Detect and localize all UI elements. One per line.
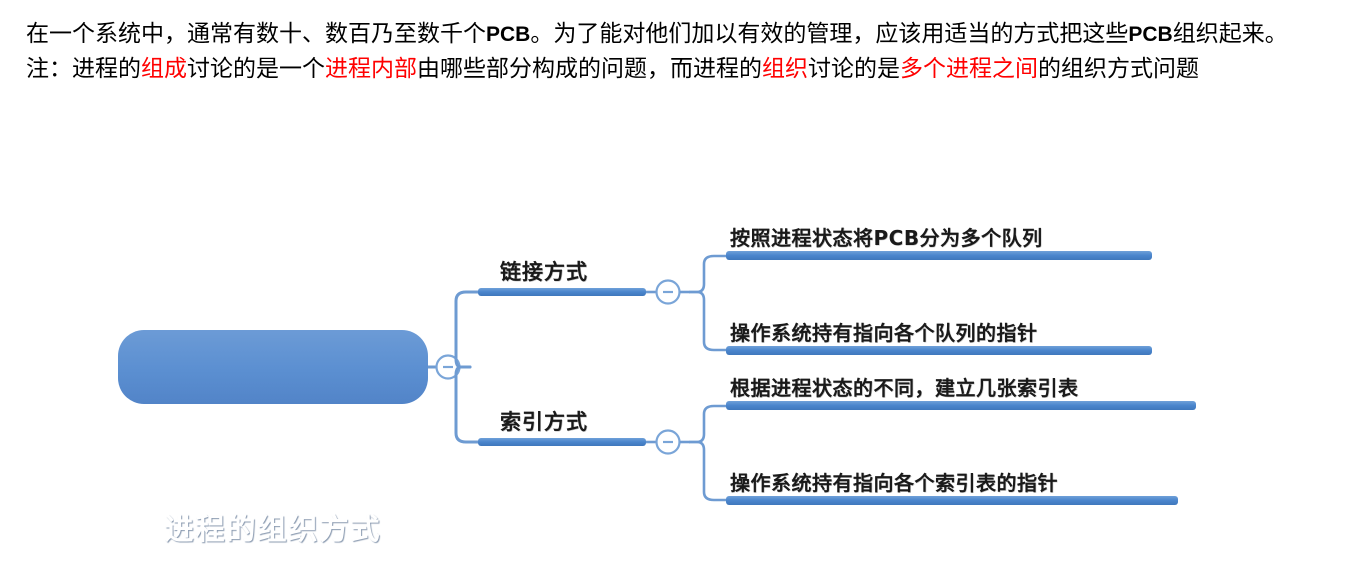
mindmap-diagram: 进程的组织方式 链接方式 索引方式 按照进程状态将PCB分为多个队列 操作系统持… — [0, 160, 1348, 512]
text-block: 在一个系统中，通常有数十、数百乃至数千个PCB。为了能对他们加以有效的管理，应该… — [26, 18, 1326, 87]
trunk-connector-path — [456, 292, 478, 367]
trunk-connector-path-2 — [456, 367, 478, 442]
text-run: 组织起来。 — [1173, 21, 1288, 46]
leaf-fork-path-2 — [690, 292, 726, 350]
mindmap-canvas — [0, 160, 1348, 512]
text-run-highlight: 多个进程之间 — [900, 56, 1038, 81]
branch-label-index-method[interactable]: 索引方式 — [500, 406, 588, 436]
text-run-highlight: 进程内部 — [325, 56, 417, 81]
text-run: 的组织方式问题 — [1038, 56, 1199, 81]
text-run: 。为了能对他们加以有效的管理，应该用适当的方式把这些 — [530, 21, 1128, 46]
leaf-bar-1[interactable] — [726, 251, 1152, 260]
root-node-label[interactable]: 进程的组织方式 — [118, 490, 428, 564]
leaf-label-4[interactable]: 操作系统持有指向各个索引表的指针 — [730, 467, 1058, 496]
leaf-fork-path-1 — [690, 256, 726, 292]
text-run-highlight: 组织 — [762, 56, 808, 81]
leaf-label-3[interactable]: 根据进程状态的不同，建立几张索引表 — [730, 372, 1079, 401]
minus-circle-icon-index-method[interactable] — [657, 431, 680, 454]
branch-bar-link-method[interactable] — [478, 288, 646, 296]
leaf-label-2[interactable]: 操作系统持有指向各个队列的指针 — [730, 317, 1038, 346]
leaf-bar-4[interactable] — [726, 496, 1178, 505]
text-run-pcb: PCB — [486, 23, 530, 46]
branch-bar-index-method[interactable] — [478, 438, 646, 446]
paragraph-2: 注：进程的组成讨论的是一个进程内部由哪些部分构成的问题，而进程的组织讨论的是多个… — [26, 53, 1326, 85]
leaf-label-1[interactable]: 按照进程状态将PCB分为多个队列 — [730, 222, 1043, 251]
minus-circle-icon-link-method[interactable] — [657, 281, 680, 304]
leaf-bar-2[interactable] — [726, 346, 1152, 355]
leaf-bar-3[interactable] — [726, 401, 1196, 410]
text-run: 讨论的是 — [808, 56, 900, 81]
text-run: 注：进程的 — [26, 56, 141, 81]
text-run: 由哪些部分构成的问题，而进程的 — [417, 56, 762, 81]
text-run: 讨论的是一个 — [187, 56, 325, 81]
text-run-pcb: PCB — [1128, 23, 1172, 46]
branch-label-link-method[interactable]: 链接方式 — [500, 256, 588, 286]
text-run-highlight: 组成 — [141, 56, 187, 81]
paragraph-1: 在一个系统中，通常有数十、数百乃至数千个PCB。为了能对他们加以有效的管理，应该… — [26, 18, 1326, 51]
root-node-shape[interactable] — [118, 330, 428, 404]
leaf-fork-path-4 — [690, 442, 726, 500]
text-run: 在一个系统中，通常有数十、数百乃至数千个 — [26, 21, 486, 46]
leaf-fork-path-3 — [690, 406, 726, 442]
